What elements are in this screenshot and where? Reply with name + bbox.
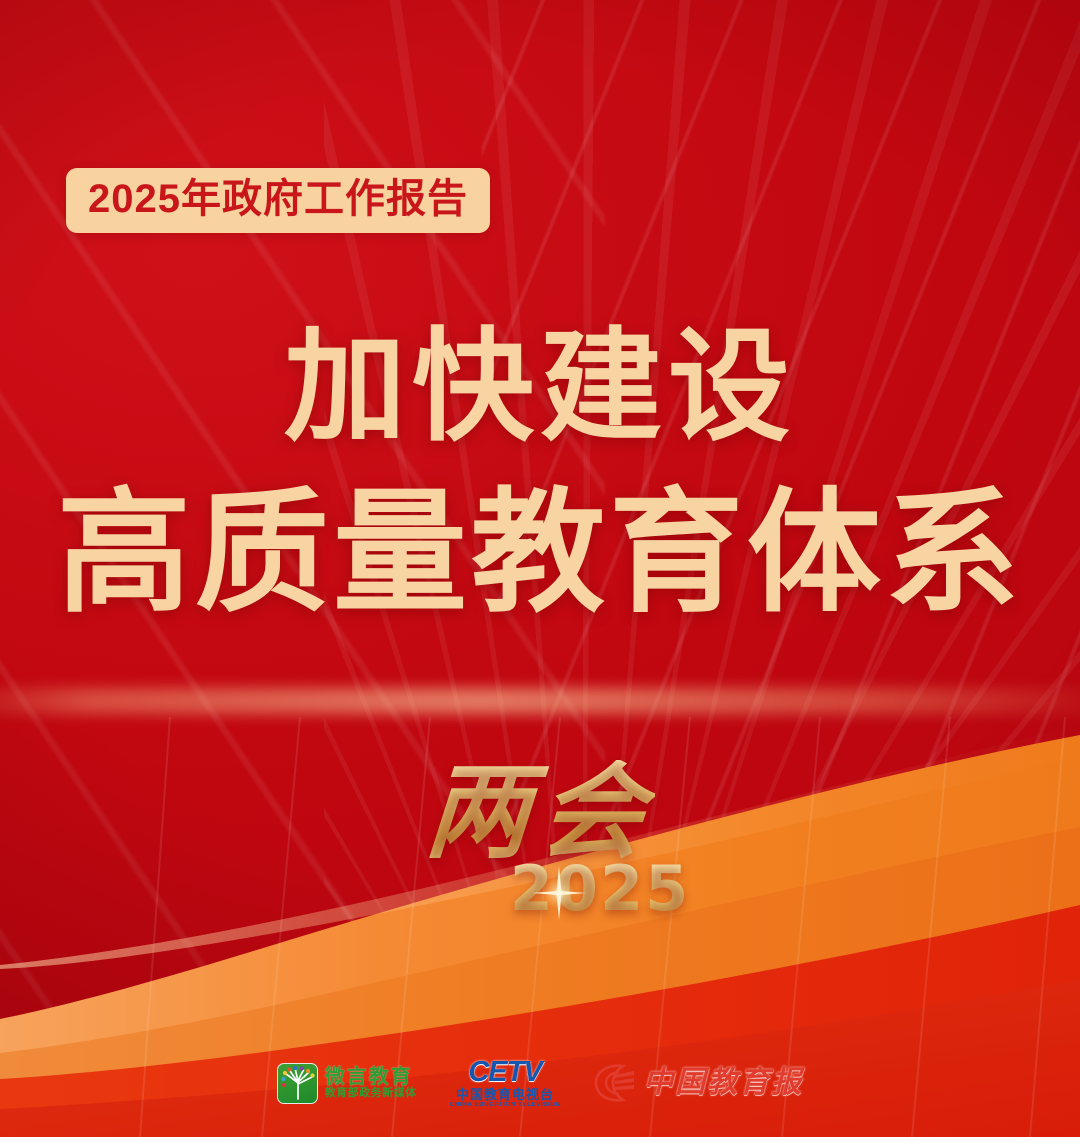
circle-e-icon	[593, 1063, 637, 1103]
footer-logo-row: 微言教育 教育部政务新媒体 CETV 中国教育电视台 CHINA EDUCATI…	[0, 1058, 1080, 1108]
logo-zhongguo-jiaoyu-bao-title: 中国教育报	[643, 1068, 803, 1098]
headline: 加快建设 高质量教育体系	[0, 318, 1080, 627]
emblem-title: 两会	[422, 760, 657, 864]
headline-line-1: 加快建设	[0, 318, 1080, 455]
lianghui-emblem: 两会 2025	[0, 760, 1080, 920]
logo-weiyan-subtitle: 教育部政务新媒体	[325, 1088, 417, 1099]
logo-cetv-title: 中国教育电视台	[456, 1088, 554, 1101]
logo-weiyan-text: 微言教育 教育部政务新媒体	[325, 1067, 417, 1099]
logo-cetv-subtitle: CHINA EDUCATION TELEVISION	[450, 1102, 561, 1108]
report-badge: 2025年政府工作报告	[66, 168, 490, 233]
poster: 2025年政府工作报告 加快建设 高质量教育体系 两会 2025	[0, 0, 1080, 1137]
logo-weiyan-title: 微言教育	[325, 1067, 417, 1087]
headline-line-2: 高质量教育体系	[0, 477, 1080, 627]
dandelion-icon	[277, 1063, 318, 1104]
logo-weiyan-jiaoyu: 微言教育 教育部政务新媒体	[277, 1063, 417, 1104]
logo-cetv: CETV 中国教育电视台 CHINA EDUCATION TELEVISION	[451, 1058, 560, 1108]
logo-cetv-acronym: CETV	[468, 1058, 541, 1087]
logo-zhongguo-jiaoyu-bao: 中国教育报	[593, 1063, 803, 1103]
